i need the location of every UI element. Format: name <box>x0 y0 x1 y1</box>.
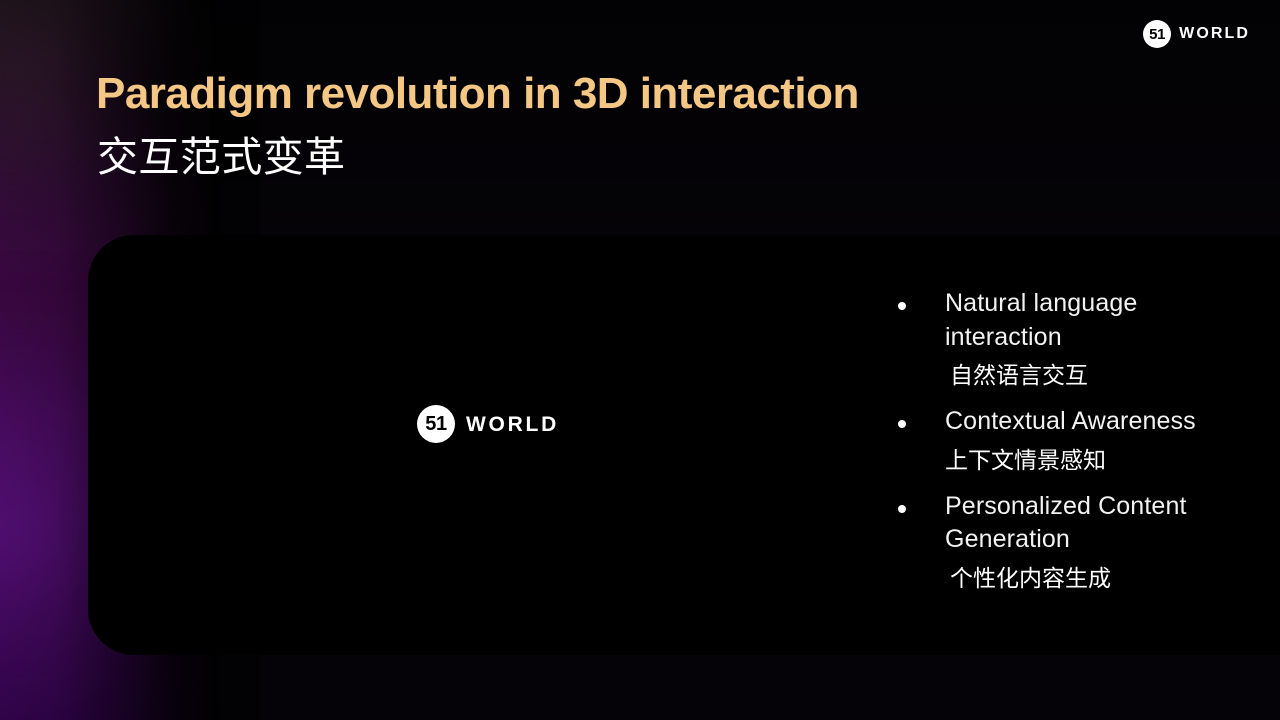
brand-wordmark: WORLD <box>466 414 559 435</box>
list-item: Personalized Content Generation 个性化内容生成 <box>898 490 1250 594</box>
list-item-body: Contextual Awareness 上下文情景感知 <box>945 405 1250 476</box>
list-item-label-english: Contextual Awareness <box>945 405 1250 439</box>
slide-root: 51 WORLD Paradigm revolution in 3D inter… <box>0 0 1280 720</box>
brand-wordmark: WORLD <box>1179 26 1250 42</box>
list-item-label-english: Personalized Content Generation <box>945 490 1250 557</box>
list-item-label-chinese: 个性化内容生成 <box>945 562 1250 594</box>
list-item: Contextual Awareness 上下文情景感知 <box>898 405 1250 476</box>
list-item-body: Natural language interaction 自然语言交互 <box>945 287 1250 391</box>
list-item-label-chinese: 自然语言交互 <box>945 359 1250 391</box>
list-item: Natural language interaction 自然语言交互 <box>898 287 1250 391</box>
bullet-dot-icon <box>898 505 906 513</box>
bullet-dot-icon <box>898 302 906 310</box>
brand-mark-icon: 51 <box>1143 20 1171 48</box>
bullet-dot-icon <box>898 420 906 428</box>
feature-bullet-list: Natural language interaction 自然语言交互 Cont… <box>898 287 1250 608</box>
list-item-label-english: Natural language interaction <box>945 287 1250 354</box>
brand-mark-icon: 51 <box>417 405 455 443</box>
page-title-chinese: 交互范式变革 <box>97 134 345 181</box>
brand-logo-topright: 51 WORLD <box>1143 20 1250 48</box>
page-title-english: Paradigm revolution in 3D interaction <box>96 70 859 118</box>
list-item-label-chinese: 上下文情景感知 <box>945 444 1250 476</box>
list-item-body: Personalized Content Generation 个性化内容生成 <box>945 490 1250 594</box>
brand-logo-center: 51 WORLD <box>417 405 559 443</box>
